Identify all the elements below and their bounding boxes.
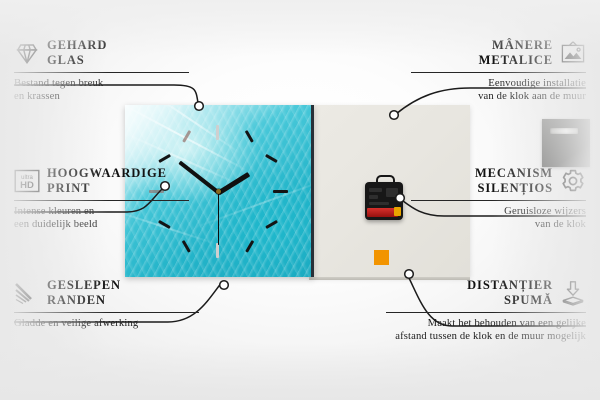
callout-title-line2: PRINT xyxy=(47,181,90,195)
callout-title-line2: METALICE xyxy=(479,53,553,67)
callout-sub-line1: Gladde en veilige afwerking xyxy=(14,318,138,329)
connector-dot-distantier xyxy=(405,270,414,279)
callout-rule xyxy=(14,72,189,73)
callout-rule xyxy=(411,200,586,201)
callout-title-line2: SPUMĂ xyxy=(504,293,553,307)
callout-rule xyxy=(411,72,586,73)
diagonal-stripes-icon xyxy=(14,280,40,306)
connector-dot-manere xyxy=(390,111,399,120)
callout-sub-line1: Intense kleuren en xyxy=(14,206,94,217)
callout-sub-line1: Maakt het behouden van een gelijke xyxy=(428,318,586,329)
callout-title-line1: GEHARD xyxy=(47,38,107,52)
callout-rule xyxy=(14,200,189,201)
picture-frame-icon xyxy=(560,40,586,66)
callout-title-line2: RANDEN xyxy=(47,293,106,307)
callout-manere-metalice[interactable]: MÂNERE METALICE Eenvoudige installatie v… xyxy=(411,38,586,104)
callout-rule xyxy=(386,312,586,313)
callout-title-line2: SILENȚIOS xyxy=(478,181,554,195)
callout-rule xyxy=(14,312,199,313)
callout-sub-line1: Eenvoudige installatie xyxy=(488,78,586,89)
callout-distantier-spuma[interactable]: DISTANȚIER SPUMĂ Maakt het behouden van … xyxy=(386,278,586,344)
callout-title-line1: HOOGWAARDIGE xyxy=(47,166,167,180)
callout-title-line1: GESLEPEN xyxy=(47,278,121,292)
gear-icon xyxy=(560,168,586,194)
callout-sub-line2: en krassen xyxy=(14,91,60,102)
connector-dot-mecanism xyxy=(396,194,405,203)
callout-sub-line2: afstand tussen de klok en de muur mogeli… xyxy=(395,331,586,342)
ultra-hd-icon: ultra HD xyxy=(14,168,40,194)
callout-title-line2: GLAS xyxy=(47,53,85,67)
callout-hoogwaardige-print[interactable]: ultra HD HOOGWAARDIGE PRINT Intense kleu… xyxy=(14,166,189,232)
diamond-icon xyxy=(14,40,40,66)
svg-text:HD: HD xyxy=(20,180,34,191)
callout-sub-line2: van de klok xyxy=(535,219,586,230)
callout-mecanism-silentios[interactable]: MECANISM SILENȚIOS Geruisloze wijzers va… xyxy=(411,166,586,232)
connector-dot-randen xyxy=(220,281,229,290)
callout-sub-line2: van de klok aan de muur xyxy=(478,91,586,102)
callout-sub-line1: Geruisloze wijzers xyxy=(504,206,586,217)
callout-geslepen-randen[interactable]: GESLEPEN RANDEN Gladde en veilige afwerk… xyxy=(14,278,199,330)
callout-title-line1: MÂNERE xyxy=(492,38,553,52)
connector-dot-gehard-glas xyxy=(195,102,204,111)
callout-gehard-glas[interactable]: GEHARD GLAS Bestand tegen breuk en krass… xyxy=(14,38,189,104)
press-down-arrow-icon xyxy=(560,280,586,306)
callout-title-line1: MECANISM xyxy=(475,166,553,180)
infographic-canvas: GEHARD GLAS Bestand tegen breuk en krass… xyxy=(0,0,600,400)
callout-sub-line2: een duidelijk beeld xyxy=(14,219,97,230)
callout-title-line1: DISTANȚIER xyxy=(467,278,553,292)
callout-sub-line1: Bestand tegen breuk xyxy=(14,78,103,89)
